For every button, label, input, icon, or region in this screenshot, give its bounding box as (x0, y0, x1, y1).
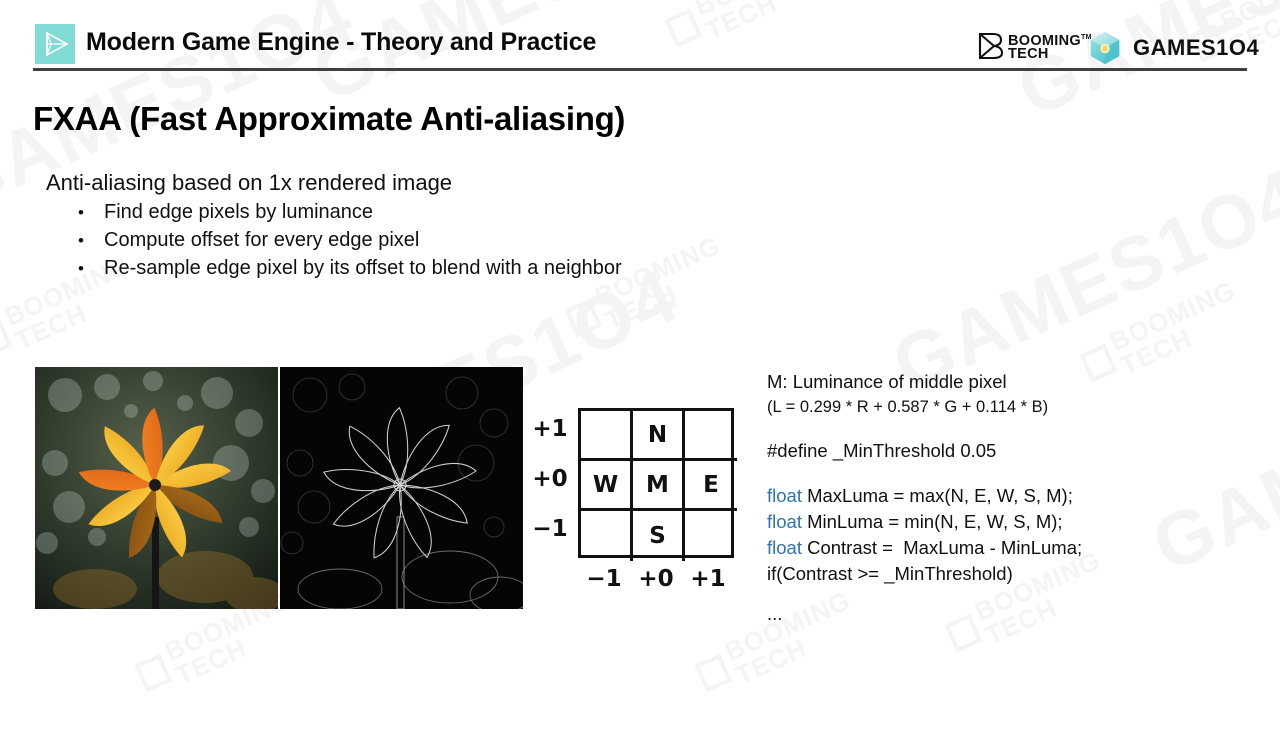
booming-tech-mark-icon (978, 32, 1004, 60)
formula-and-code-panel: M: Luminance of middle pixel (L = 0.299 … (767, 369, 1082, 627)
note-middle-pixel: M: Luminance of middle pixel (767, 369, 1082, 395)
booming-tech-mark-icon (1079, 344, 1117, 383)
slide-lead-text: Anti-aliasing based on 1x rendered image (46, 170, 452, 196)
list-item-label: Re-sample edge pixel by its offset to bl… (104, 257, 622, 280)
code-text: Contrast = MaxLuma - MinLuma; (802, 537, 1082, 558)
slide-title: FXAA (Fast Approximate Anti-aliasing) (33, 100, 625, 138)
games104-cube-icon (1086, 29, 1124, 67)
grid-cell (581, 411, 633, 461)
code-line-minluma: float MinLuma = min(N, E, W, S, M); (767, 509, 1082, 535)
grid-cell (685, 511, 737, 561)
grid-row-label: −1 (524, 504, 576, 554)
booming-tech-logo: BOOMINGTM TECH (978, 31, 1092, 61)
grid-3x3: N W M E S (578, 408, 734, 558)
code-keyword: float (767, 537, 802, 558)
play-triangle-icon (35, 24, 75, 64)
list-item: • Re-sample edge pixel by its offset to … (78, 257, 622, 285)
games104-wordmark: GAMES1O4 (1133, 35, 1259, 61)
grid-row-label: +0 (524, 454, 576, 504)
grid-cell (685, 411, 737, 461)
watermark-booming-tech: BOOMINGTECH (1075, 277, 1250, 393)
booming-tech-wordmark: BOOMINGTM TECH (1008, 31, 1092, 61)
grid-col-label: −1 (578, 562, 630, 596)
header-divider (33, 68, 1247, 71)
grid-col-label: +1 (682, 562, 734, 596)
grid-cell-east: E (685, 461, 737, 511)
bullet-list: • Find edge pixels by luminance • Comput… (78, 201, 622, 285)
grid-row-axis-labels: +1 +0 −1 (524, 404, 576, 554)
code-line-maxluma: float MaxLuma = max(N, E, W, S, M); (767, 483, 1082, 509)
pinwheel-photo-graphic (35, 367, 278, 609)
bullet-marker-icon: • (78, 231, 104, 251)
slide-canvas: GAMES1O4 GAMES1O4 GAMES1O4 GAMES1O4 GAME… (0, 0, 1280, 739)
list-item-label: Find edge pixels by luminance (104, 201, 373, 224)
booming-tech-mark-icon (0, 319, 12, 358)
code-text: MaxLuma = max(N, E, W, S, M); (802, 485, 1073, 506)
pinwheel-edge-map (280, 367, 523, 609)
code-ellipsis: ... (767, 601, 1082, 627)
code-text: if(Contrast >= _MinThreshold) (767, 563, 1013, 584)
code-line-contrast: float Contrast = MaxLuma - MinLuma; (767, 535, 1082, 561)
grid-cell (581, 511, 633, 561)
grid-cell-west: W (581, 461, 633, 511)
code-keyword: float (767, 511, 802, 532)
booming-tech-mark-icon (564, 299, 602, 338)
grid-col-axis-labels: −1 +0 +1 (578, 562, 734, 596)
bullet-marker-icon: • (78, 259, 104, 279)
code-define-minthreshold: #define _MinThreshold 0.05 (767, 438, 1082, 464)
code-keyword: float (767, 485, 802, 506)
course-logo (35, 24, 75, 64)
list-item: • Find edge pixels by luminance (78, 201, 622, 229)
slide-header: Modern Game Engine - Theory and Practice… (0, 0, 1280, 80)
booming-tech-mark-icon (694, 654, 732, 693)
grid-cell-north: N (633, 411, 685, 461)
pinwheel-edge-map-graphic (280, 367, 523, 609)
watermark-games104: GAMES1O4 (1140, 332, 1280, 590)
list-item-label: Compute offset for every edge pixel (104, 229, 419, 252)
list-item: • Compute offset for every edge pixel (78, 229, 622, 257)
booming-tech-mark-icon (134, 654, 172, 693)
note-luminance-formula: (L = 0.299 * R + 0.587 * G + 0.114 * B) (767, 395, 1082, 419)
code-line-if: if(Contrast >= _MinThreshold) (767, 561, 1082, 587)
pinwheel-photo (35, 367, 278, 609)
page-title: Modern Game Engine - Theory and Practice (86, 28, 596, 57)
grid-cell-south: S (633, 511, 685, 561)
grid-cell-middle: M (633, 461, 685, 511)
grid-row-label: +1 (524, 404, 576, 454)
bullet-marker-icon: • (78, 203, 104, 223)
grid-col-label: +0 (630, 562, 682, 596)
games104-logo: GAMES1O4 (1086, 29, 1259, 67)
code-text: MinLuma = min(N, E, W, S, M); (802, 511, 1063, 532)
